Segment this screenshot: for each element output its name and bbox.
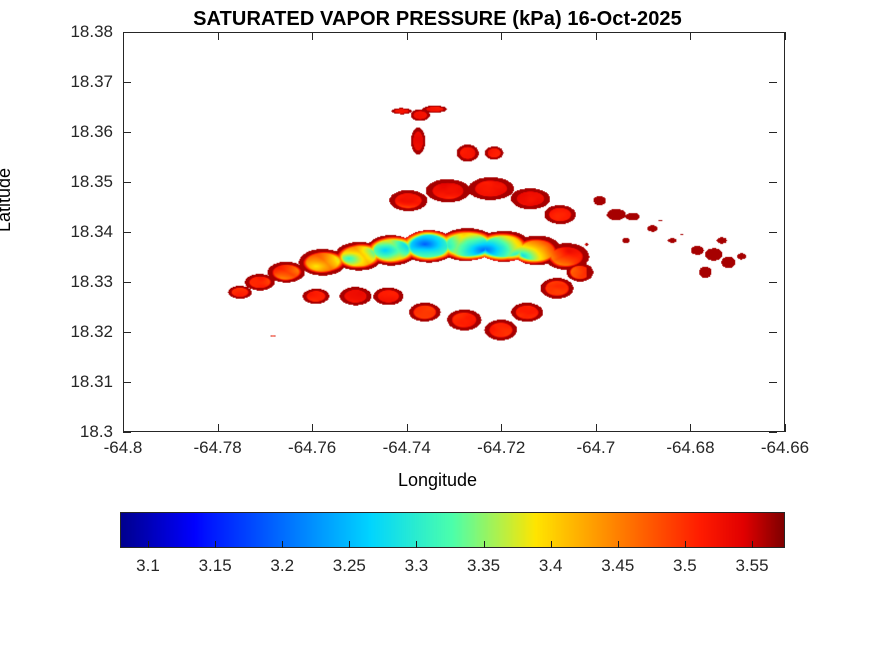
- colorbar-tick-label: 3.1: [136, 556, 160, 576]
- x-tick-mark: [218, 424, 219, 432]
- colorbar-tick-label: 3.35: [467, 556, 500, 576]
- y-tick-mark-right: [769, 332, 777, 333]
- y-tick-mark: [123, 82, 131, 83]
- colorbar-tick-label: 3.3: [405, 556, 429, 576]
- map-axes: [123, 32, 785, 432]
- y-tick-label: 18.3: [0, 422, 113, 442]
- colorbar-tick-label: 3.45: [601, 556, 634, 576]
- y-tick-mark: [123, 182, 131, 183]
- colorbar-tick-mark: [484, 541, 485, 548]
- y-tick-mark-right: [769, 282, 777, 283]
- colorbar-tick-mark: [752, 541, 753, 548]
- x-tick-label: -64.74: [383, 438, 431, 458]
- y-tick-mark-right: [769, 382, 777, 383]
- x-axis-label: Longitude: [0, 470, 875, 491]
- x-tick-label: -64.7: [576, 438, 615, 458]
- y-tick-mark-right: [769, 182, 777, 183]
- colorbar-tick-mark: [148, 541, 149, 548]
- y-tick-mark: [123, 132, 131, 133]
- y-tick-label: 18.35: [0, 172, 113, 192]
- y-tick-mark: [123, 432, 131, 433]
- colorbar-tick-label: 3.55: [735, 556, 768, 576]
- colorbar-tick-label: 3.15: [199, 556, 232, 576]
- vapor-pressure-raster: [124, 33, 784, 431]
- colorbar-tick-mark: [282, 541, 283, 548]
- x-tick-mark-top: [501, 32, 502, 40]
- y-tick-mark: [123, 32, 131, 33]
- y-tick-mark-right: [769, 432, 777, 433]
- y-axis-label: Latitude: [0, 168, 15, 232]
- x-tick-mark: [785, 424, 786, 432]
- colorbar-tick-mark: [215, 541, 216, 548]
- y-tick-label: 18.38: [0, 22, 113, 42]
- x-tick-mark: [312, 424, 313, 432]
- x-tick-mark-top: [596, 32, 597, 40]
- y-tick-mark-right: [769, 82, 777, 83]
- x-tick-label: -64.72: [477, 438, 525, 458]
- x-tick-label: -64.8: [104, 438, 143, 458]
- y-tick-label: 18.34: [0, 222, 113, 242]
- y-tick-mark-right: [769, 132, 777, 133]
- x-tick-mark: [690, 424, 691, 432]
- colorbar-tick-label: 3.5: [673, 556, 697, 576]
- colorbar-tick-mark: [416, 541, 417, 548]
- y-tick-label: 18.31: [0, 372, 113, 392]
- x-tick-mark-top: [407, 32, 408, 40]
- y-tick-mark-right: [769, 232, 777, 233]
- x-tick-mark-top: [218, 32, 219, 40]
- x-tick-mark: [596, 424, 597, 432]
- page-title: SATURATED VAPOR PRESSURE (kPa) 16-Oct-20…: [0, 8, 875, 31]
- x-tick-mark: [407, 424, 408, 432]
- y-tick-mark: [123, 332, 131, 333]
- x-tick-mark: [501, 424, 502, 432]
- y-tick-label: 18.36: [0, 122, 113, 142]
- x-tick-label: -64.66: [761, 438, 809, 458]
- colorbar-tick-label: 3.25: [333, 556, 366, 576]
- y-tick-mark: [123, 282, 131, 283]
- x-tick-label: -64.78: [193, 438, 241, 458]
- colorbar-tick-label: 3.2: [270, 556, 294, 576]
- y-tick-label: 18.33: [0, 272, 113, 292]
- colorbar-tick-label: 3.4: [539, 556, 563, 576]
- x-tick-mark-top: [690, 32, 691, 40]
- colorbar-tick-mark: [618, 541, 619, 548]
- x-tick-mark: [123, 424, 124, 432]
- colorbar-tick-mark: [685, 541, 686, 548]
- x-tick-label: -64.68: [666, 438, 714, 458]
- y-tick-mark: [123, 232, 131, 233]
- y-tick-label: 18.37: [0, 72, 113, 92]
- x-tick-mark-top: [312, 32, 313, 40]
- y-tick-mark-right: [769, 32, 777, 33]
- x-tick-label: -64.76: [288, 438, 336, 458]
- y-tick-mark: [123, 382, 131, 383]
- colorbar-tick-mark: [551, 541, 552, 548]
- figure-canvas: SATURATED VAPOR PRESSURE (kPa) 16-Oct-20…: [0, 0, 875, 656]
- colorbar-tick-mark: [349, 541, 350, 548]
- x-tick-mark-top: [123, 32, 124, 40]
- x-tick-mark-top: [785, 32, 786, 40]
- y-tick-label: 18.32: [0, 322, 113, 342]
